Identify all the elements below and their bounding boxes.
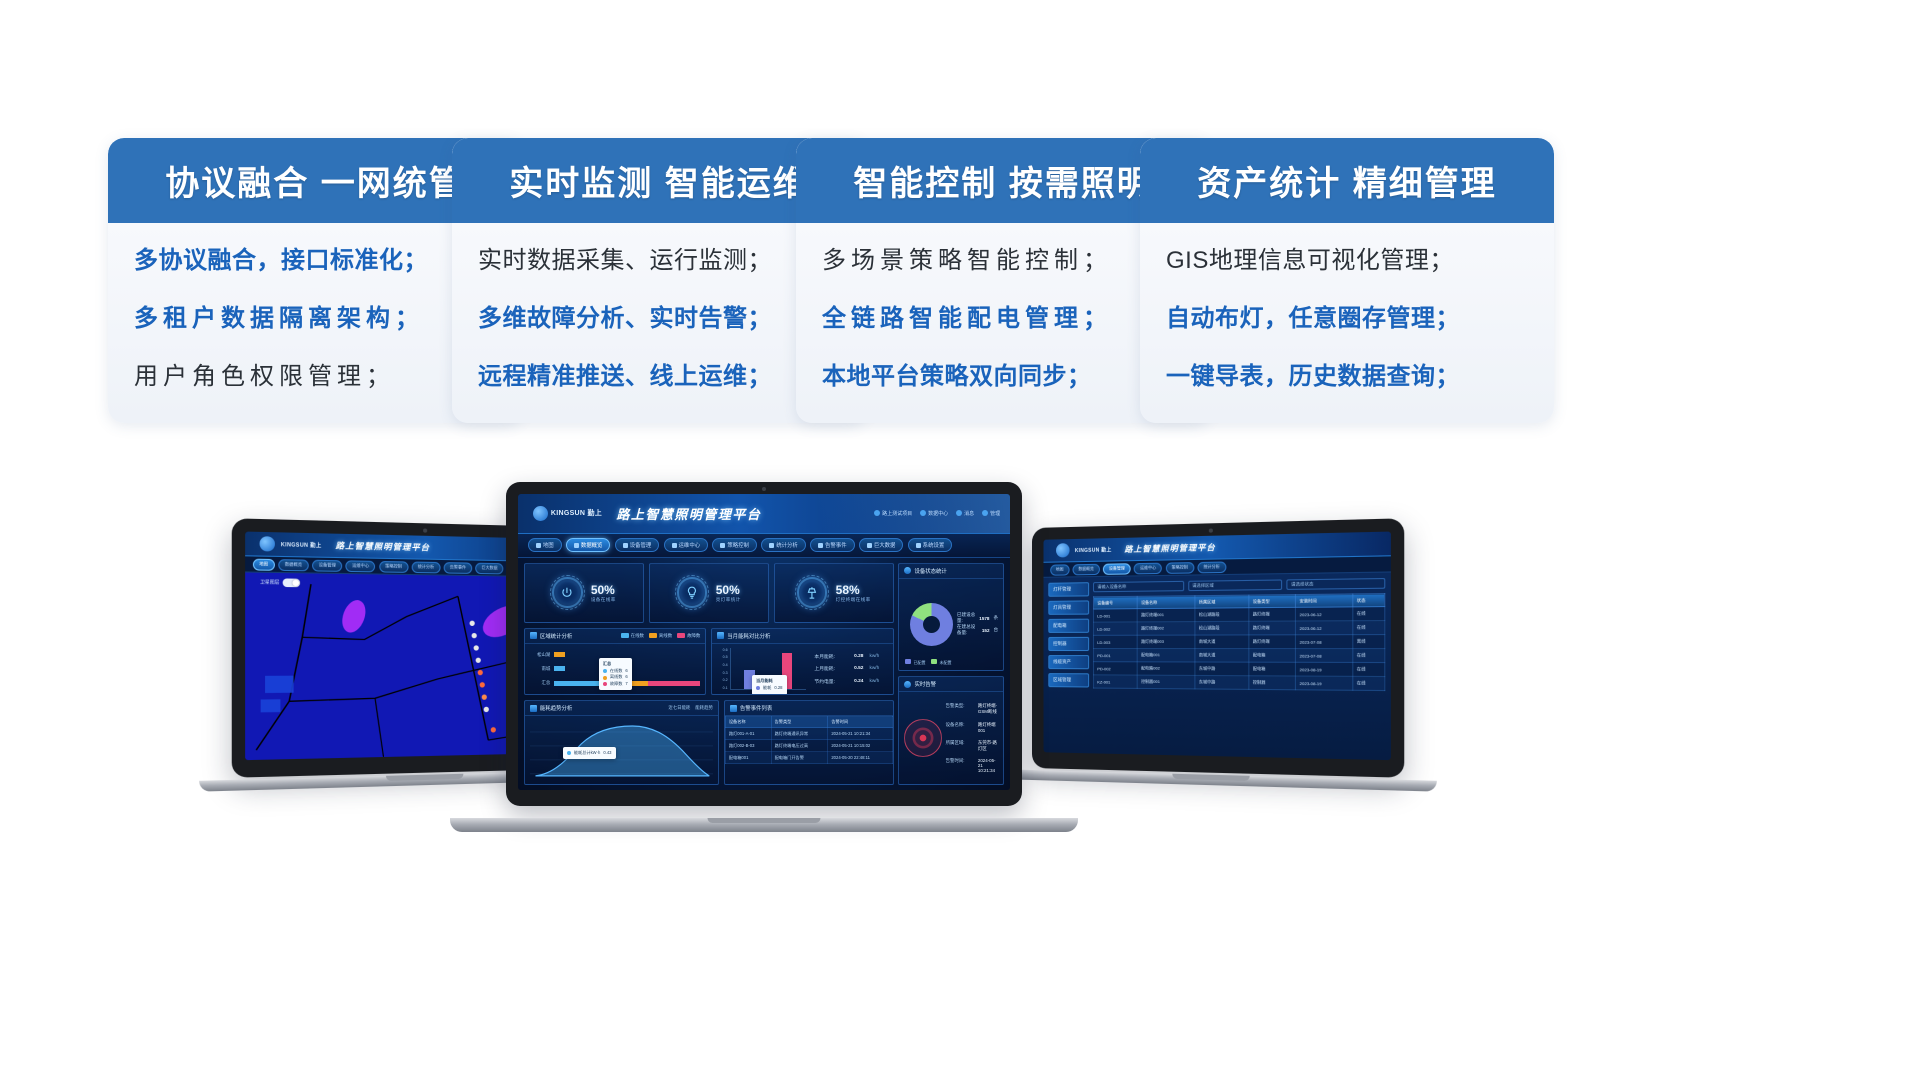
device-status-donut-wrap: 已建设总量: 1578 条 在建总设备量: 152 台 [904, 583, 998, 667]
asset-sidebar: 灯杆管理 灯具管理 配电箱 控制器 线缆资产 区域管理 [1048, 582, 1089, 746]
cell: 路灯终端003 [1138, 635, 1196, 648]
panel-device-status: 设备状态统计 已建设总量: 1578 [898, 563, 1004, 672]
asset-title: 路上智慧照明管理平台 [1124, 542, 1215, 555]
map-nav-tab-3[interactable]: 运维中心 [346, 560, 376, 572]
panel-trend-header: 能耗趋势分析 近七日能耗 能耗趋势 [525, 701, 718, 716]
webcam-icon [423, 528, 427, 532]
bar-segment-fault [648, 681, 701, 686]
panel-alarm-body: 设备名称 告警类型 告警时间 路灯001-A-01 路灯终端通讯异常 [725, 716, 893, 784]
brand-logo-text: KINGSUN 勤上 [281, 541, 322, 549]
laptop-right-lid: KINGSUN 勤上 路上智慧照明管理平台 地图 数据概览 设备管理 运维中心 … [1032, 518, 1404, 778]
nav-tab-device[interactable]: 设备管理 [615, 538, 660, 552]
dashboard-nav: 地图 数据概览 设备管理 运维中心 [518, 534, 1010, 558]
panel-region-stats-header: 区域统计分析 在线数 离线数 故障数 [525, 629, 705, 644]
feature-card-1-line-1: 多协议融合，接口标准化； [134, 249, 500, 273]
trend-subtabs: 近七日能耗 能耗趋势 [668, 705, 713, 711]
nav-tab-stats[interactable]: 统计分析 [761, 538, 806, 552]
energy-chart-wrap: 0.6 0.5 0.4 0.3 0.2 0.1 [717, 648, 887, 691]
stat-key: 在建总设备量: [957, 624, 978, 636]
feature-card-2-title: 实时监测 智能运维 [509, 156, 808, 205]
chart-row: 区域统计分析 在线数 离线数 故障数 [524, 628, 894, 696]
nav-tab-stats-label: 统计分析 [776, 541, 798, 549]
asset-col-5: 状态 [1353, 594, 1385, 607]
map-title: 路上智慧照明管理平台 [335, 540, 430, 554]
asset-nav-tab-0[interactable]: 地图 [1050, 564, 1069, 575]
donut-legend: 已配置 未配置 [905, 659, 951, 666]
kpi-card-terminal-rate: 58% 灯控终端在线率 [774, 563, 894, 623]
legend-item-online: 在线数 [621, 633, 644, 639]
panel-energy-compare: 当月能耗对比分析 0.6 0.5 [711, 628, 893, 696]
panel-energy-title: 当月能耗对比分析 [727, 632, 770, 640]
y-tick: 0.5 [717, 655, 727, 659]
stat-unit: 台 [994, 627, 999, 633]
tooltip-dot [567, 751, 571, 755]
asset-sidebar-item-3[interactable]: 控制器 [1048, 637, 1089, 651]
kpi-card-online-rate: 50% 设备在线率 [524, 563, 644, 623]
cell: PD-002 [1094, 662, 1138, 675]
asset-sidebar-item-5[interactable]: 区域管理 [1048, 673, 1089, 687]
bar-row-label: 松山湖 [530, 652, 550, 658]
realtime-stat-row: 所属区域: 东莞市-路灯区 [946, 740, 998, 752]
cell: 配电箱001 [725, 752, 771, 764]
kpi-online-rate-label: 设备在线率 [591, 597, 616, 603]
table-row[interactable]: KZ-001 控制器001 东城中路 控制器 2023-08-19 在线 [1094, 675, 1385, 691]
cell: 在线 [1353, 663, 1385, 677]
header-datacenter-label: 数据中心 [928, 510, 948, 517]
bar-segment-online [554, 666, 564, 671]
cell: 配电箱001 [1138, 649, 1196, 662]
feature-card-1-title: 协议融合 一网统管 [165, 156, 464, 205]
cell: 配电箱 [1249, 649, 1296, 663]
y-tick: 0.2 [717, 678, 727, 682]
table-row[interactable]: LD-003 路灯终端003 南城大道 路灯终端 2023-07-08 离线 [1094, 635, 1385, 649]
alarm-table: 设备名称 告警类型 告警时间 路灯001-A-01 路灯终端通讯异常 [725, 716, 893, 764]
nav-tab-bigdata[interactable]: 巨大数据 [859, 538, 904, 552]
nav-tab-strategy[interactable]: 策略控制 [712, 538, 757, 552]
trend-subtab-1[interactable]: 能耗趋势 [695, 705, 713, 711]
map-nav-tab-7[interactable]: 巨大数据 [475, 562, 503, 574]
brand-logo-text: KINGSUN 勤上 [1075, 546, 1112, 554]
header-actions: 路上测试项目 数据中心 消息 [874, 510, 1000, 517]
cell: LD-002 [1094, 622, 1138, 635]
cell: 路灯001-A-01 [725, 728, 771, 740]
tooltip-row: 故障数 7 [603, 681, 628, 687]
panel-realtime-alarm: 实时告警 告警类型: 路灯终端-GSM断线 [898, 676, 1004, 785]
device-stat-row: 已建设总量: 1578 条 [957, 612, 998, 624]
alarm-icon [818, 543, 823, 548]
cell: 在线 [1353, 607, 1385, 621]
laptop-center-base [450, 818, 1078, 832]
cell: 路灯终端 [1249, 621, 1296, 635]
cell: 在线 [1353, 677, 1385, 691]
panel-device-status-header: 设备状态统计 [899, 564, 1003, 579]
cell: 南城大道 [1195, 635, 1249, 649]
donut-legend-item-configured: 已配置 [905, 659, 925, 666]
tooltip-value: 0.28 [774, 685, 782, 691]
brand-logo-icon [1056, 543, 1070, 557]
cell: 在线 [1353, 649, 1385, 663]
cell: 2023-08-19 [1296, 662, 1353, 676]
nav-tab-strategy-label: 策略控制 [727, 541, 749, 549]
feature-card-4-line-1: GIS地理信息可视化管理； [1166, 249, 1532, 273]
legend-item-fault: 故障数 [677, 633, 700, 639]
energy-y-axis: 0.6 0.5 0.4 0.3 0.2 0.1 [717, 648, 729, 691]
feature-card-3-line-1: 多场景策略智能控制； [822, 249, 1188, 273]
nav-tab-ops[interactable]: 运维中心 [664, 538, 709, 552]
nav-tab-bigdata-label: 巨大数据 [874, 541, 896, 549]
stat-value: 1578 [979, 616, 989, 621]
lamp-icon [797, 577, 828, 608]
realtime-stat-row: 告警类型: 路灯终端-GSM断线 [946, 703, 998, 715]
cell: 南城大道 [1195, 649, 1249, 663]
panel-device-status-body: 已建设总量: 1578 条 在建总设备量: 152 台 [899, 579, 1003, 671]
asset-col-2: 所属区域 [1195, 595, 1249, 608]
nav-tab-alarm-label: 告警事件 [825, 541, 847, 549]
panel-energy-body: 0.6 0.5 0.4 0.3 0.2 0.1 [712, 644, 892, 695]
feature-card-3-line-3: 本地平台策略双向同步； [822, 365, 1188, 389]
realtime-stat-row: 设备名称: 路灯终端001 [946, 722, 998, 733]
tooltip-row: 能耗总计kW·h 0.43 [567, 750, 612, 756]
region-chart-tooltip: 汇总 在线数 6 [599, 658, 632, 690]
power-icon [552, 577, 583, 608]
stat-value: 152 [982, 628, 990, 633]
feature-card-2-line-1: 实时数据采集、运行监测； [478, 249, 844, 273]
dashboard-main-column: 50% 设备在线率 [524, 563, 894, 786]
energy-chart-tooltip: 当月能耗 能耗 0.28 [752, 675, 787, 695]
kpi-card-lighting-rate: 50% 亮灯率统计 [649, 563, 769, 623]
stat-value: 东莞市-路灯区 [978, 740, 998, 752]
map-layer-toggle[interactable]: 卫星图层 [260, 578, 300, 587]
stat-value: 路灯终端001 [978, 722, 998, 733]
trend-subtab-0[interactable]: 近七日能耗 [668, 705, 690, 711]
header-user-menu[interactable]: 管理 [982, 510, 1000, 517]
panel-trend-title: 能耗趋势分析 [540, 704, 572, 712]
bulb-icon [677, 577, 708, 608]
alarm-col-time: 告警时间 [828, 717, 892, 728]
building-icon [874, 510, 880, 516]
bar-row-label: 汇总 [530, 680, 550, 686]
cell: LD-001 [1094, 609, 1138, 623]
kpi-card-lighting-rate-text: 50% 亮灯率统计 [716, 583, 741, 603]
stat-key: 上月能耗: [814, 665, 848, 672]
feature-card-1-line-2: 多租户数据隔离架构； [134, 307, 500, 331]
cell: 路灯终端002 [1138, 622, 1196, 636]
cell: 路灯终端001 [1138, 608, 1196, 622]
stat-value: 2024-05-21 10:21:34 [978, 758, 998, 773]
y-tick: 0.1 [717, 686, 727, 690]
map-nav-tab-5[interactable]: 统计分析 [411, 561, 440, 573]
asset-nav-tab-1[interactable]: 数据概览 [1072, 563, 1099, 575]
energy-stat-row: 节约电量: 0.24 kw/h [814, 678, 887, 685]
panel-alarm-title: 告警事件列表 [740, 704, 772, 712]
energy-stat-row: 上月能耗: 0.52 kw/h [814, 665, 887, 672]
gear-icon [916, 543, 921, 548]
kpi-online-rate-value: 50% [591, 583, 616, 597]
stat-value: 0.28 [854, 654, 863, 659]
panel-trend-body: 能耗总计kW·h 0.43 [525, 716, 718, 784]
laptop-center-screen: KINGSUN 勤上 路上智慧照明管理平台 路上测试项目 数据中心 [518, 494, 1010, 790]
dashboard-side-column: 设备状态统计 已建设总量: 1578 [898, 563, 1004, 786]
panel-realtime-title: 实时告警 [914, 680, 936, 688]
map-nav-tab-0[interactable]: 地图 [253, 558, 275, 570]
globe-icon [920, 510, 926, 516]
trend-svg [530, 720, 713, 780]
panel-alarm-list: 告警事件列表 设备名称 告警类型 告警时间 [724, 700, 894, 785]
cell: 路灯终端 [1249, 607, 1296, 621]
poster-canvas: 协议融合 一网统管 多协议融合，接口标准化； 多租户数据隔离架构； 用户角色权限… [0, 0, 1920, 1080]
feature-card-2-line-3: 远程精准推送、线上运维； [478, 365, 844, 389]
laptop-center: KINGSUN 勤上 路上智慧照明管理平台 路上测试项目 数据中心 [506, 482, 1022, 806]
header-message-link[interactable]: 消息 [956, 510, 974, 517]
device-stat-row: 在建总设备量: 152 台 [957, 624, 998, 636]
header-project-label: 路上测试项目 [882, 510, 912, 517]
brand-logo-icon [260, 536, 275, 551]
y-tick: 0.3 [717, 671, 727, 675]
cell: 路灯终端电压过高 [771, 740, 828, 752]
trend-chart-tooltip: 能耗总计kW·h 0.43 [563, 747, 616, 759]
laptop-center-lid: KINGSUN 勤上 路上智慧照明管理平台 路上测试项目 数据中心 [506, 482, 1022, 806]
device-icon [623, 543, 628, 548]
panel-icon [530, 705, 537, 712]
feature-card-4: 资产统计 精细管理 GIS地理信息可视化管理； 自动布灯，任意圈存管理； 一键导… [1140, 138, 1554, 423]
panel-alarm-header: 告警事件列表 [725, 701, 893, 716]
cell: 配电箱 [1249, 662, 1296, 676]
radar-pulse-icon [904, 719, 941, 756]
device-status-donut [910, 603, 953, 646]
panel-region-stats-title: 区域统计分析 [540, 632, 572, 640]
kpi-terminal-rate-label: 灯控终端在线率 [836, 597, 871, 603]
cell: 路灯终端 [1249, 635, 1296, 649]
stat-key: 节约电量: [814, 678, 848, 685]
map-nav-tab-1[interactable]: 数据概览 [278, 559, 309, 571]
toggle-switch-icon[interactable] [283, 579, 300, 588]
stats-icon [769, 543, 774, 548]
asset-search-input-1[interactable]: 请选择区域 [1188, 580, 1282, 592]
tooltip-dot [603, 669, 607, 673]
cell: KZ-001 [1094, 675, 1138, 689]
nav-tab-overview-label: 数据概览 [581, 541, 603, 549]
table-row[interactable]: PD-001 配电箱001 南城大道 配电箱 2023-07-08 在线 [1094, 649, 1385, 663]
map-layer-toggle-label: 卫星图层 [260, 580, 279, 587]
bell-icon [956, 510, 962, 516]
tooltip-row: 能耗 0.28 [756, 685, 783, 691]
bottom-row: 能耗趋势分析 近七日能耗 能耗趋势 [524, 700, 894, 785]
cell: 2023-08-19 [1296, 676, 1353, 690]
map-icon [536, 543, 541, 548]
tooltip-name: 能耗 [763, 685, 771, 691]
stat-unit: 条 [994, 615, 999, 621]
feature-card-4-line-2: 自动布灯，任意圈存管理； [1166, 307, 1532, 331]
feature-card-3-line-2: 全链路智能配电管理； [822, 307, 1188, 331]
asset-content: 灯杆管理 灯具管理 配电箱 控制器 线缆资产 区域管理 请输入设备名称 请选择区… [1044, 573, 1391, 754]
cell: 松山湖路段 [1195, 621, 1249, 635]
donut-legend-item-unconfigured: 未配置 [931, 659, 951, 666]
panel-region-stats-body: 松山湖 南城 [525, 644, 705, 695]
table-row[interactable]: 路灯002-B-03 路灯终端电压过高 2024-05-21 10:15:02 [725, 740, 892, 752]
asset-nav-tab-4[interactable]: 策略控制 [1165, 562, 1194, 574]
energy-trend-area-chart: 能耗总计kW·h 0.43 [530, 720, 713, 780]
play-icon [720, 543, 725, 548]
device-status-stats: 已建设总量: 1578 条 在建总设备量: 152 台 [953, 612, 998, 636]
map-nav-tab-6[interactable]: 告警事件 [444, 562, 473, 574]
bar-segment-online [554, 681, 601, 686]
asset-search-input-2[interactable]: 请选择状态 [1287, 578, 1385, 590]
laptop-right-notch [1172, 774, 1250, 781]
stat-unit: kw/h [869, 654, 879, 659]
tooltip-title: 汇总 [603, 661, 628, 667]
bar-row-label: 南城 [530, 666, 550, 672]
stat-key: 本月能耗: [814, 653, 848, 660]
asset-table: 设备编号 设备名称 所属区域 设备类型 安装时间 状态 LD-001 路灯终端0 [1093, 593, 1385, 691]
cell: 离线 [1353, 635, 1385, 649]
stat-key: 已建设总量: [957, 612, 975, 624]
asset-col-4: 安装时间 [1296, 594, 1353, 607]
brand-logo-icon [533, 506, 548, 521]
feature-card-4-header: 资产统计 精细管理 [1140, 138, 1554, 223]
platform-title: 路上智慧照明管理平台 [616, 504, 761, 523]
dashboard-app: KINGSUN 勤上 路上智慧照明管理平台 路上测试项目 数据中心 [518, 494, 1010, 790]
asset-sidebar-item-1[interactable]: 灯具管理 [1048, 601, 1089, 615]
map-nav-tab-4[interactable]: 策略控制 [379, 561, 408, 573]
kpi-terminal-rate-value: 58% [836, 583, 871, 597]
tooltip-value: 0.43 [603, 750, 611, 756]
cell: 2023-06-12 [1296, 621, 1353, 635]
wrench-icon [672, 543, 677, 548]
webcam-icon [762, 487, 766, 491]
nav-tab-ops-label: 运维中心 [679, 541, 701, 549]
cell: 2024-05-21 10:15:02 [828, 740, 892, 752]
asset-col-1: 设备名称 [1138, 596, 1196, 609]
table-row[interactable]: LD-002 路灯终端002 松山湖路段 路灯终端 2023-06-12 在线 [1094, 621, 1385, 636]
cell: 路灯终端通讯异常 [771, 728, 828, 740]
stat-unit: kw/h [869, 666, 879, 671]
nav-tab-settings-label: 系统设置 [923, 541, 945, 549]
laptop-center-notch [707, 818, 820, 823]
tooltip-dot [756, 686, 760, 690]
asset-search-bar: 请输入设备名称 请选择区域 请选择状态 [1093, 578, 1385, 592]
cell: 配电箱门开告警 [771, 752, 828, 764]
panel-energy-header: 当月能耗对比分析 [712, 629, 892, 644]
cell: 东城中路 [1195, 662, 1249, 676]
energy-stat-row: 本月能耗: 0.28 kw/h [814, 653, 887, 660]
nav-tab-alarm[interactable]: 告警事件 [810, 538, 855, 552]
tooltip-dot [603, 676, 607, 680]
cell: 2023-07-08 [1296, 649, 1353, 663]
tooltip-name: 故障数 [610, 681, 623, 687]
laptop-left-notch [386, 774, 464, 781]
energy-stats: 本月能耗: 0.28 kw/h 上月能耗: 0.52 [806, 648, 888, 691]
tooltip-dot [603, 682, 607, 686]
cell: 路灯002-B-03 [725, 740, 771, 752]
tooltip-name: 能耗总计kW·h [574, 750, 601, 756]
cell: 控制器 [1249, 676, 1296, 690]
kpi-card-terminal-rate-text: 58% 灯控终端在线率 [836, 583, 871, 603]
kpi-lighting-rate-value: 50% [716, 583, 741, 597]
asset-app: KINGSUN 勤上 路上智慧照明管理平台 地图 数据概览 设备管理 运维中心 … [1044, 532, 1391, 761]
panel-icon [730, 705, 737, 712]
panel-icon [904, 567, 911, 574]
stat-key: 告警时间: [946, 758, 973, 773]
asset-nav-tab-3[interactable]: 运维中心 [1134, 562, 1162, 574]
nav-tab-map[interactable]: 地图 [528, 538, 562, 552]
feature-card-4-body: GIS地理信息可视化管理； 自动布灯，任意圈存管理； 一键导表，历史数据查询； [1140, 223, 1554, 389]
header-user-label: 管理 [990, 510, 1000, 517]
stat-unit: kw/h [869, 679, 879, 684]
y-tick: 0.6 [717, 648, 727, 652]
dashboard-body: 50% 设备在线率 [518, 558, 1010, 790]
cell: 2023-07-08 [1296, 635, 1353, 649]
asset-search-input-0[interactable]: 请输入设备名称 [1093, 581, 1184, 592]
dashboard-header: KINGSUN 勤上 路上智慧照明管理平台 路上测试项目 数据中心 [518, 494, 1010, 534]
nav-tab-overview[interactable]: 数据概览 [566, 538, 611, 552]
asset-sidebar-item-0[interactable]: 灯杆管理 [1048, 582, 1089, 597]
nav-tab-map-label: 地图 [543, 541, 554, 549]
legend-item-offline: 离线数 [649, 633, 672, 639]
panel-energy-trend: 能耗趋势分析 近七日能耗 能耗趋势 [524, 700, 719, 785]
laptop-right-screen: KINGSUN 勤上 路上智慧照明管理平台 地图 数据概览 设备管理 运维中心 … [1044, 532, 1391, 761]
stat-key: 设备名称: [946, 722, 973, 733]
user-icon [982, 510, 988, 516]
asset-nav-tab-5[interactable]: 统计分析 [1197, 561, 1226, 573]
bar-track [554, 652, 700, 657]
panel-icon [530, 632, 537, 639]
cell: LD-003 [1094, 635, 1138, 648]
cell: PD-001 [1094, 649, 1138, 662]
alarm-table-header-row: 设备名称 告警类型 告警时间 [725, 717, 892, 728]
nav-tab-settings[interactable]: 系统设置 [908, 538, 953, 552]
panel-region-stats: 区域统计分析 在线数 离线数 故障数 [524, 628, 706, 696]
tooltip-value: 7 [625, 681, 627, 687]
asset-sidebar-item-2[interactable]: 配电箱 [1048, 619, 1089, 633]
panel-realtime-header: 实时告警 [899, 677, 1003, 692]
panel-icon [717, 632, 724, 639]
bar-segment-offline [554, 652, 564, 657]
feature-card-1-line-3: 用户角色权限管理； [134, 365, 500, 389]
asset-nav-tab-2[interactable]: 设备管理 [1103, 563, 1131, 575]
cell: 配电箱002 [1138, 662, 1196, 676]
cell: 在线 [1353, 621, 1385, 635]
stat-key: 所属区域: [946, 740, 973, 752]
cell: 2024-05-21 10:21:34 [828, 728, 892, 740]
panel-device-status-title: 设备状态统计 [914, 567, 946, 575]
map-nav-tab-2[interactable]: 设备管理 [312, 559, 342, 571]
asset-sidebar-item-4[interactable]: 线缆资产 [1048, 655, 1089, 669]
header-message-label: 消息 [964, 510, 974, 517]
feature-card-4-title: 资产统计 精细管理 [1197, 156, 1496, 205]
feature-card-2-line-2: 多维故障分析、实时告警； [478, 307, 844, 331]
asset-main: 请输入设备名称 请选择区域 请选择状态 设备编号 设备名称 所属区域 设备类型 [1093, 578, 1385, 753]
stat-value: 0.24 [854, 679, 863, 684]
laptop-right: KINGSUN 勤上 路上智慧照明管理平台 地图 数据概览 设备管理 运维中心 … [1032, 518, 1404, 778]
feature-card-3-title: 智能控制 按需照明 [853, 156, 1152, 205]
alarm-col-device: 设备名称 [725, 717, 771, 728]
kpi-card-online-rate-text: 50% 设备在线率 [591, 583, 616, 603]
stat-value: 0.52 [854, 666, 863, 671]
table-row[interactable]: 路灯001-A-01 路灯终端通讯异常 2024-05-21 10:21:34 [725, 728, 892, 740]
table-row[interactable]: 配电箱001 配电箱门开告警 2024-05-20 22:48:11 [725, 752, 892, 764]
header-datacenter-link[interactable]: 数据中心 [920, 510, 948, 517]
kpi-lighting-rate-label: 亮灯率统计 [716, 597, 741, 603]
cell: 2023-06-12 [1296, 607, 1353, 621]
chart-icon [574, 543, 579, 548]
header-project-selector[interactable]: 路上测试项目 [874, 510, 912, 517]
asset-col-0: 设备编号 [1094, 597, 1138, 610]
db-icon [867, 543, 872, 548]
y-tick: 0.4 [717, 663, 727, 667]
panel-realtime-body: 告警类型: 路灯终端-GSM断线 设备名称: 路灯终端001 [899, 692, 1003, 784]
feature-card-row: 协议融合 一网统管 多协议融合，接口标准化； 多租户数据隔离架构； 用户角色权限… [0, 0, 1920, 430]
cell: 松山湖路段 [1195, 608, 1249, 622]
